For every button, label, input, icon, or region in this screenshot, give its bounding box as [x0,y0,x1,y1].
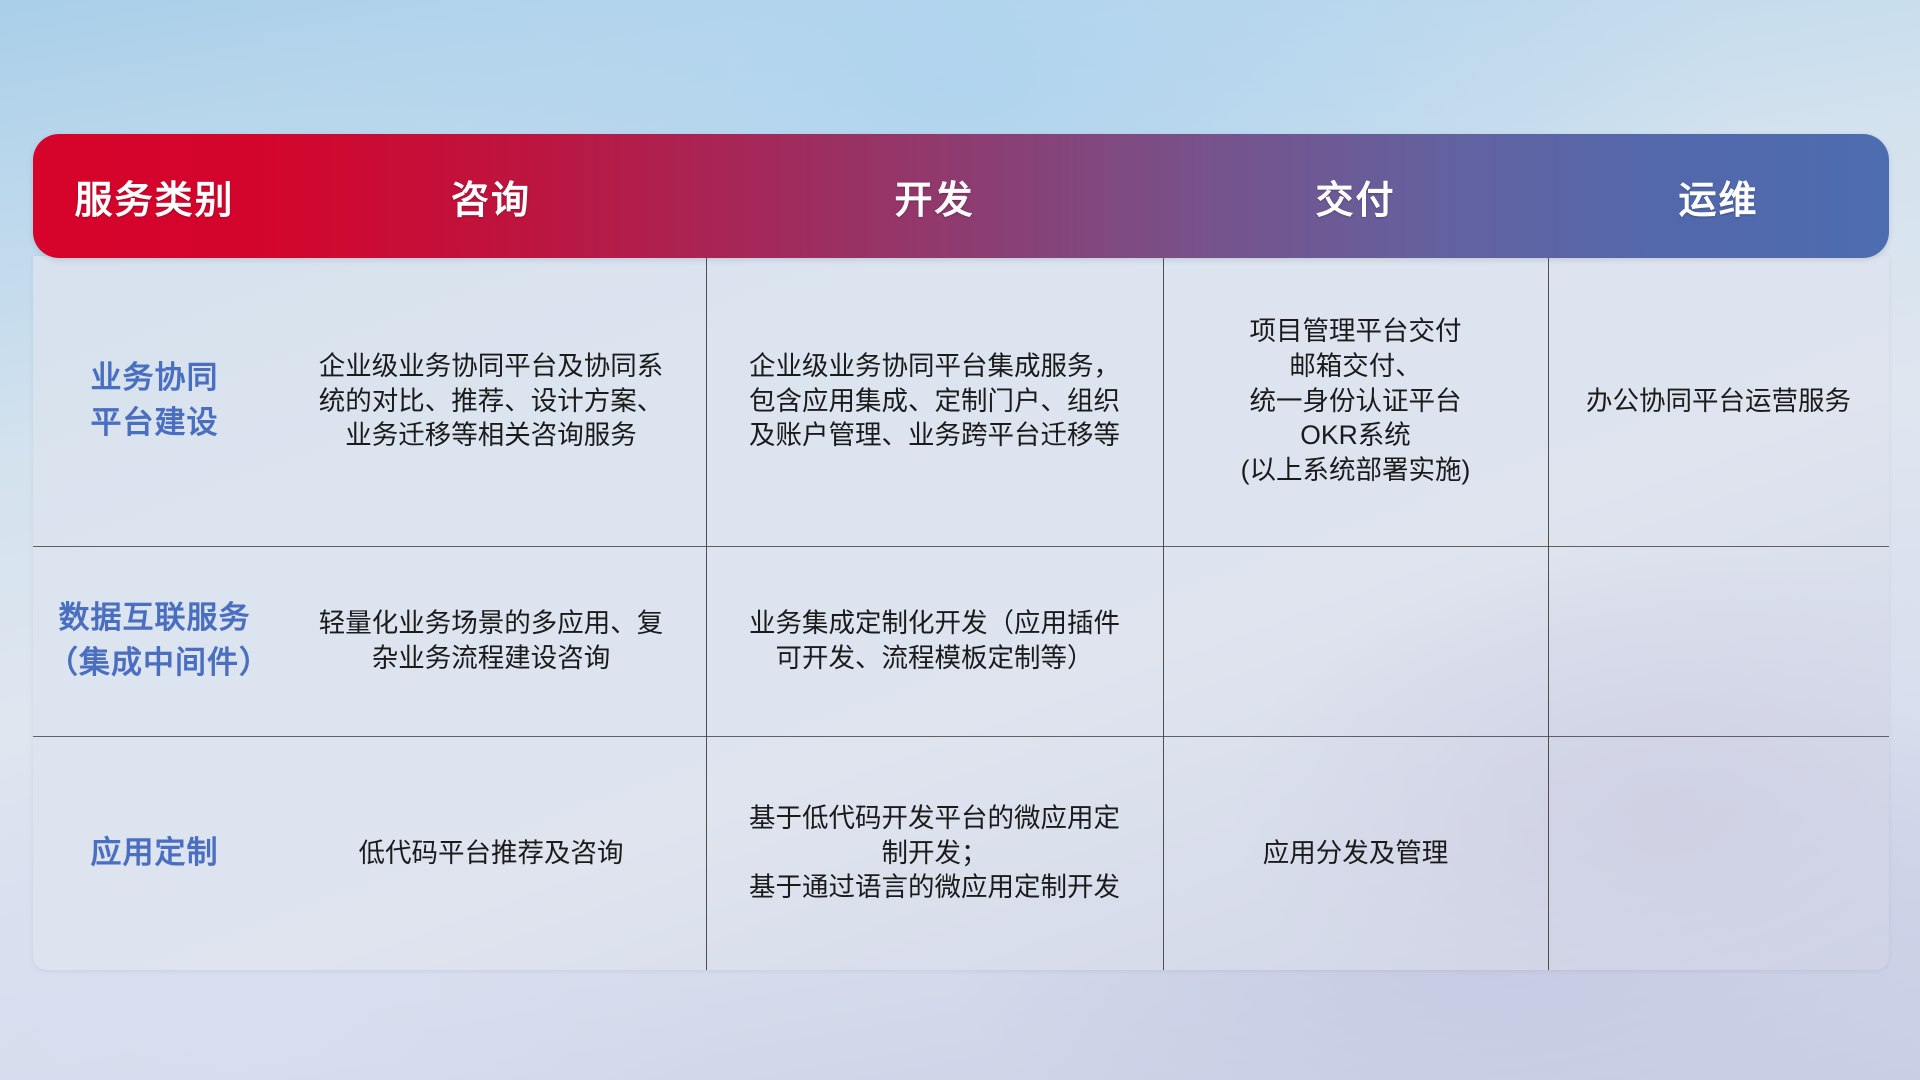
cell-operations [1548,546,1889,736]
row-category-label: 业务协同 平台建设 [33,256,276,546]
cell-consulting: 轻量化业务场景的多应用、复 杂业务流程建设咨询 [276,546,706,736]
row-category-label: 数据互联服务 （集成中间件） [33,546,276,736]
column-header-development: 开发 [706,134,1163,258]
cell-consulting: 低代码平台推荐及咨询 [276,736,706,970]
service-matrix-table: 服务类别 咨询 开发 交付 运维 业务协同 平台建设 企业级业务协同平台及协同系… [33,134,1889,969]
column-header-service-category: 服务类别 [33,134,276,258]
column-divider [1163,546,1164,736]
table-row: 应用定制 低代码平台推荐及咨询 基于低代码开发平台的微应用定 制开发； 基于通过… [33,736,1889,970]
cell-operations: 办公协同平台运营服务 [1548,256,1889,546]
column-divider [706,736,707,970]
cell-development: 企业级业务协同平台集成服务， 包含应用集成、定制门户、组织 及账户管理、业务跨平… [706,256,1163,546]
column-header-delivery: 交付 [1163,134,1548,258]
column-divider [1548,546,1549,736]
cell-delivery: 应用分发及管理 [1163,736,1548,970]
cell-consulting: 企业级业务协同平台及协同系 统的对比、推荐、设计方案、 业务迁移等相关咨询服务 [276,256,706,546]
column-divider [706,256,707,546]
column-divider [706,546,707,736]
cell-operations [1548,736,1889,970]
column-divider [1548,736,1549,970]
slide-canvas: 服务类别 咨询 开发 交付 运维 业务协同 平台建设 企业级业务协同平台及协同系… [0,0,1920,1080]
cell-development: 业务集成定制化开发（应用插件 可开发、流程模板定制等） [706,546,1163,736]
row-category-label: 应用定制 [33,736,276,970]
column-header-operations: 运维 [1548,134,1889,258]
column-divider [1548,256,1549,546]
column-divider [1163,256,1164,546]
table-body: 业务协同 平台建设 企业级业务协同平台及协同系 统的对比、推荐、设计方案、 业务… [33,256,1889,970]
cell-development: 基于低代码开发平台的微应用定 制开发； 基于通过语言的微应用定制开发 [706,736,1163,970]
cell-delivery [1163,546,1548,736]
table-header-row: 服务类别 咨询 开发 交付 运维 [33,134,1889,258]
column-divider [1163,736,1164,970]
column-header-consulting: 咨询 [276,134,706,258]
table-row: 业务协同 平台建设 企业级业务协同平台及协同系 统的对比、推荐、设计方案、 业务… [33,256,1889,546]
table-row: 数据互联服务 （集成中间件） 轻量化业务场景的多应用、复 杂业务流程建设咨询 业… [33,546,1889,736]
cell-delivery: 项目管理平台交付 邮箱交付、 统一身份认证平台 OKR系统 (以上系统部署实施) [1163,256,1548,546]
